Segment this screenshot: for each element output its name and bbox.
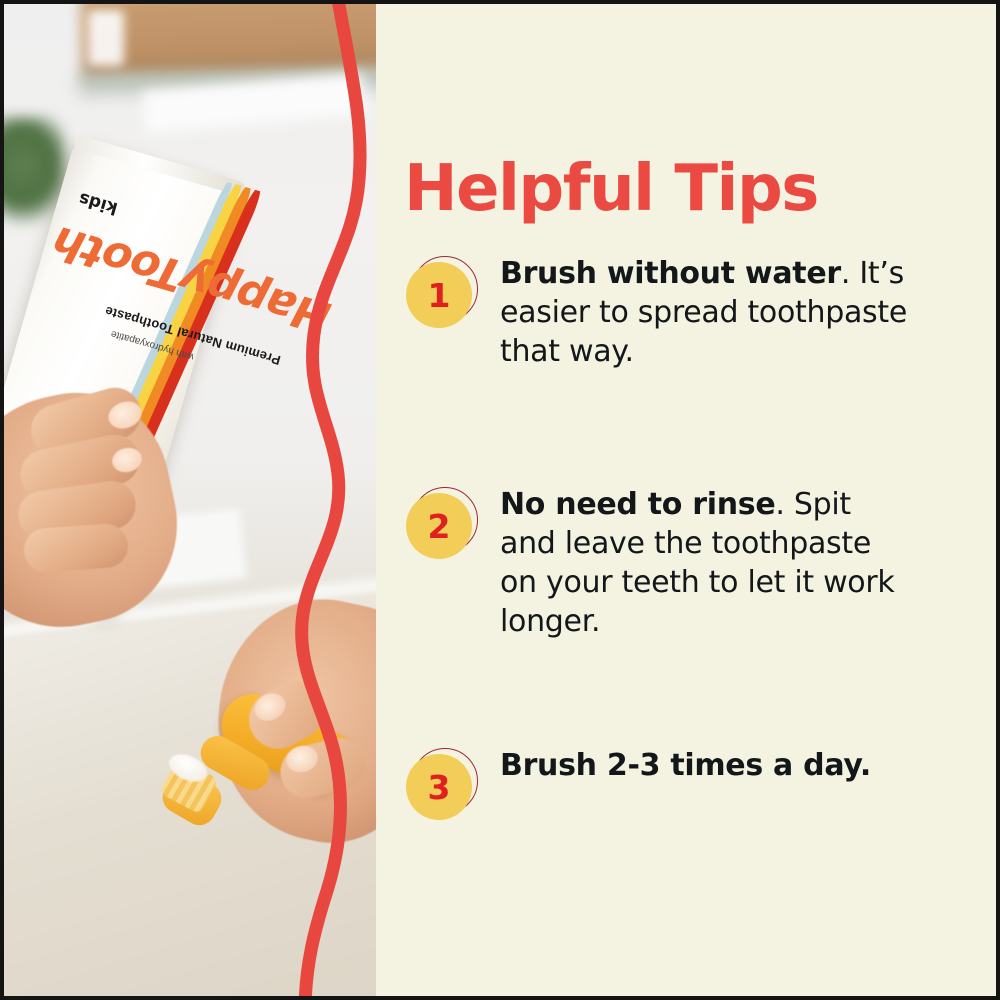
photo-blurred-bottle: [88, 10, 124, 66]
tip-item-2: 2 No need to rinse. Spit and leave the t…: [404, 485, 914, 641]
tip-1-number-badge: 1: [406, 262, 472, 328]
tip-3-lead: Brush 2-3 times a day.: [500, 748, 871, 783]
tip-1-text: Brush without water. It’s easier to spre…: [500, 254, 914, 371]
photo-wooden-board: [81, 4, 376, 78]
product-photo: HappyTooth kids Premium Natural Toothpas…: [4, 4, 376, 996]
tip-2-text: No need to rinse. Spit and leave the too…: [500, 485, 914, 641]
tip-item-1: 1 Brush without water. It’s easier to sp…: [404, 254, 914, 371]
infographic-page: HappyTooth kids Premium Natural Toothpas…: [0, 0, 1000, 1000]
tip-1-badge-wrap: 1: [404, 254, 480, 330]
tip-3-badge-wrap: 3: [404, 746, 480, 822]
tip-3-number-badge: 3: [406, 754, 472, 820]
tip-2-number-badge: 2: [406, 493, 472, 559]
tip-3-text: Brush 2-3 times a day.: [500, 746, 871, 785]
tip-item-3: 3 Brush 2-3 times a day.: [404, 746, 914, 822]
tips-content: Helpful Tips 1 Brush without water. It’s…: [396, 4, 996, 996]
page-title: Helpful Tips: [404, 157, 818, 221]
tip-2-lead: No need to rinse: [500, 487, 775, 522]
tip-2-badge-wrap: 2: [404, 485, 480, 561]
tip-1-lead: Brush without water: [500, 256, 841, 291]
photo-finger-4: [23, 522, 130, 573]
